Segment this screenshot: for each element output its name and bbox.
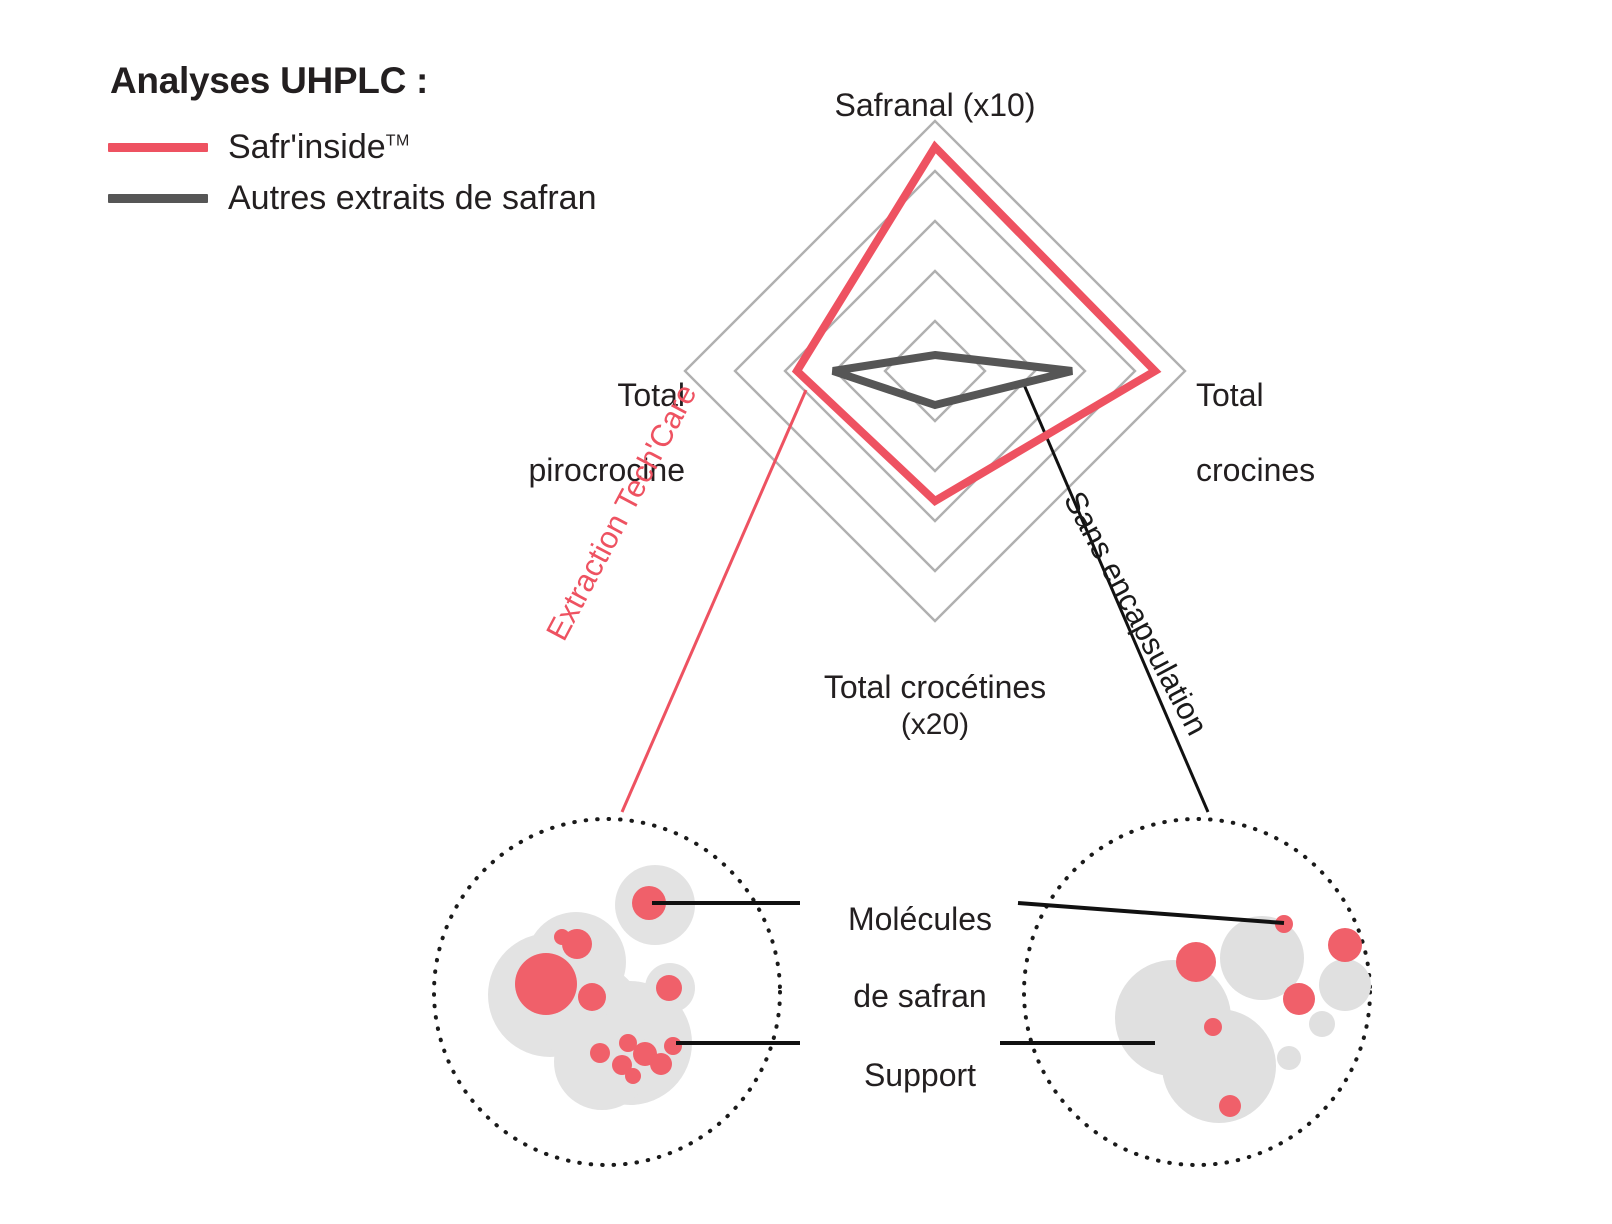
axis-label-line2: crocines bbox=[1196, 452, 1315, 488]
callout-line1: Molécules bbox=[848, 901, 992, 937]
legend: Analyses UHPLC : Safr'insideTM Autres ex… bbox=[108, 60, 728, 230]
callout-label-support: Support bbox=[770, 1018, 1070, 1095]
saffron-molecules-right bbox=[1176, 915, 1362, 1117]
autres-extraits-swatch bbox=[108, 194, 208, 203]
infographic-root: Analyses UHPLC : Safr'insideTM Autres ex… bbox=[0, 0, 1612, 1224]
dotted-circle-border bbox=[434, 819, 780, 1165]
series-safrinside bbox=[797, 147, 1155, 501]
legend-item-autres-extraits: Autres extraits de safran bbox=[108, 179, 728, 218]
extraction-techcare-circle bbox=[434, 819, 780, 1165]
axis-label-total-crocines: Total crocines bbox=[1196, 340, 1396, 490]
callout-line2: de safran bbox=[853, 978, 986, 1014]
legend-label-text: Autres extraits de safran bbox=[228, 179, 597, 217]
axis-label-total-crocetines: Total crocétines (x20) bbox=[710, 632, 1160, 779]
callout-label-molecules-de-safran: Molécules de safran bbox=[770, 862, 1070, 1016]
safrinside-swatch bbox=[108, 143, 208, 152]
series-autres-extraits bbox=[833, 355, 1072, 405]
legend-title: Analyses UHPLC : bbox=[110, 60, 728, 102]
trademark-mark: TM bbox=[386, 133, 410, 150]
saffron-molecules-left bbox=[515, 886, 682, 1084]
sans-encapsulation-circle bbox=[1024, 819, 1371, 1165]
grid-ring-3 bbox=[785, 221, 1085, 521]
axis-label-line2: (x20) bbox=[710, 707, 1160, 742]
callout-line1: Support bbox=[864, 1057, 976, 1093]
grid-ring-2 bbox=[835, 271, 1035, 471]
legend-item-label: Safr'insideTM bbox=[228, 128, 410, 167]
support-blobs-left bbox=[488, 865, 695, 1110]
support-blobs-right bbox=[1115, 916, 1371, 1123]
axis-label-line1: Total crocétines bbox=[824, 669, 1046, 705]
axis-label-line1: Safranal (x10) bbox=[835, 87, 1036, 123]
legend-label-text: Safr'inside bbox=[228, 128, 386, 166]
dotted-circle-border bbox=[1024, 819, 1370, 1165]
legend-item-safrinside: Safr'insideTM bbox=[108, 128, 728, 167]
axis-label-line1: Total bbox=[1196, 377, 1264, 413]
axis-label-safranal: Safranal (x10) bbox=[720, 50, 1150, 125]
grid-ring-1 bbox=[885, 321, 985, 421]
legend-item-label: Autres extraits de safran bbox=[228, 179, 597, 218]
